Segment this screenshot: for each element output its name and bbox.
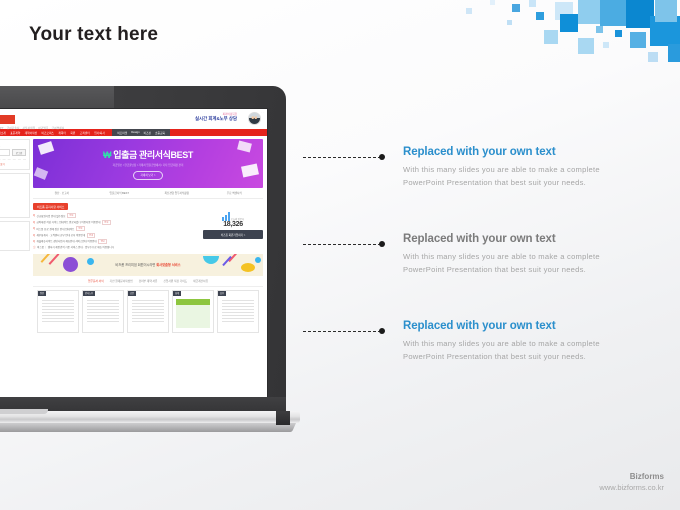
thumb-lines bbox=[222, 300, 254, 324]
mosaic-square bbox=[603, 42, 609, 48]
header-utility-links[interactable]: · · bbox=[261, 110, 264, 114]
notice-item[interactable]: Q비즈폼 유료 결제 정산 안내 업데이트안내 bbox=[33, 226, 199, 231]
q-icon: Q bbox=[33, 227, 35, 230]
thumb-caption: 회계 bbox=[173, 291, 181, 296]
mosaic-square bbox=[578, 0, 602, 24]
search-button[interactable] bbox=[0, 115, 15, 124]
thumb-caption: 일반 bbox=[38, 291, 46, 296]
nav-item[interactable]: 초중교육 bbox=[155, 131, 165, 135]
doc-tab[interactable]: 기안 결재문서작성법 bbox=[110, 279, 133, 283]
mosaic-square bbox=[544, 30, 558, 44]
nav-item[interactable]: 계약서작성 bbox=[25, 131, 37, 135]
avatar bbox=[248, 112, 261, 125]
hero-banner[interactable]: ₩ 입출금 관리서식BEST 자금일보 / 현금출납장 / 거래처 입출금명세서… bbox=[33, 139, 263, 188]
notice-tag: 안내 bbox=[67, 213, 76, 218]
login-button[interactable]: 로그인 bbox=[12, 149, 26, 156]
footer: Bizforms www.bizforms.co.kr bbox=[599, 472, 664, 492]
login-id-input[interactable] bbox=[0, 149, 10, 156]
banner-title: ₩ 입출금 관리서식BEST bbox=[103, 148, 193, 161]
banner-tabs: 결산 · 보고서 입출금서식 BEST 최신경영 업무서식활용 무료 엑셀서식 bbox=[33, 188, 263, 199]
doc-thumbnail[interactable]: 일반 bbox=[37, 290, 79, 333]
doc-tab[interactable]: 업무문서 서식 bbox=[88, 279, 104, 283]
mosaic-square bbox=[578, 38, 594, 54]
bar-chart-icon bbox=[222, 212, 230, 221]
q-icon: Q bbox=[33, 214, 35, 217]
login-links[interactable]: 회원가입 | 아이디 · 비밀번호찾기 bbox=[0, 159, 26, 166]
bullet-dot-icon bbox=[379, 154, 385, 160]
thumb-lines bbox=[132, 300, 164, 324]
doc-tab[interactable]: 세금계산서류 bbox=[193, 279, 208, 283]
doc-tab[interactable]: 경리부 계약 서류 bbox=[139, 279, 158, 283]
notice-tag: 안내 bbox=[76, 226, 85, 231]
sidebar-item[interactable]: 기업정보 bbox=[0, 201, 26, 205]
nav-item[interactable]: 캐릭터 bbox=[58, 131, 65, 135]
notice-footnote: ⓘ비즈폼 ｜ 템하기 제안견적 기준 서비스 안내 · 업무수수료 제휴 이용합… bbox=[33, 245, 199, 249]
notice-item[interactable]: Q신규회원가입 안내 필수정보안내 bbox=[33, 213, 199, 218]
dashed-line bbox=[303, 157, 381, 158]
dashed-line bbox=[303, 244, 381, 245]
thumb-caption: 공문 bbox=[128, 291, 136, 296]
bullet-dot-icon bbox=[379, 241, 385, 247]
notice-item[interactable]: Q세무회계사 · 고객센터 휴무 안내 공지 이용안내안내 bbox=[33, 233, 199, 238]
mosaic-square bbox=[560, 14, 578, 32]
doc-thumbnail[interactable]: 공문 bbox=[127, 290, 169, 333]
connector-2 bbox=[303, 240, 391, 249]
info-icon: ⓘ bbox=[33, 245, 36, 249]
site-sidebar: 마이페이지 · 로그인정보 로그인 회원가입 | 아이디 · 비밀번호찾기 급여… bbox=[0, 139, 30, 336]
dashed-line bbox=[303, 331, 381, 332]
stat-top: 오늘의 방문자 bbox=[203, 212, 263, 221]
login-title: 마이페이지 · 로그인정보 bbox=[0, 143, 26, 147]
text-block-3: Replaced with your own text With this ma… bbox=[403, 320, 638, 363]
site-body: 마이페이지 · 로그인정보 로그인 회원가입 | 아이디 · 비밀번호찾기 급여… bbox=[0, 136, 267, 336]
nav-item[interactable]: 회원 bbox=[70, 131, 75, 135]
sidebar-quick-links: 무료서식자료 비즈폼 고객센터 무료서식 출력계산기 bbox=[0, 221, 30, 251]
promo-line-2: 실시간 회계&노무 상담 bbox=[195, 116, 237, 122]
thumb-lines bbox=[42, 300, 74, 324]
thumb-caption: 인사노무 bbox=[83, 291, 95, 296]
notice-section-label: 비즈폼 공지사항 서비스 bbox=[33, 203, 68, 210]
site-nav: 홈 문서 양식 자기소개 표준계약 계약서작성 비즈오피스 캐릭터 회원 고객센… bbox=[0, 129, 267, 136]
stat-number: 18,326 bbox=[203, 221, 263, 228]
notice-item[interactable]: Q급여대장 작성 가이드 업데이트 완료되었다 이용자용 이용안내안내 bbox=[33, 220, 199, 225]
text-block-1: Replaced with your own text With this ma… bbox=[403, 146, 638, 189]
page-title: Your text here bbox=[29, 24, 158, 46]
banner-tab[interactable]: 입출금서식 BEST bbox=[91, 188, 149, 198]
mosaic-square bbox=[668, 44, 680, 62]
sidebar-cs-link[interactable]: 비즈폼 맞춤형 서비스 > bbox=[0, 208, 26, 212]
visitor-stat: 오늘의 방문자 18,326 비즈폼 회원가입하기 > bbox=[203, 212, 263, 251]
mosaic-square bbox=[466, 8, 472, 14]
block-body: With this many slides you are able to ma… bbox=[403, 164, 638, 189]
mosaic-square bbox=[630, 32, 646, 48]
nav-item[interactable]: 고객센터 bbox=[80, 131, 90, 135]
notice-tag: 안내 bbox=[98, 239, 107, 244]
mosaic-square bbox=[507, 20, 512, 25]
site-search-area: 통 PPT · 급여기술서 · 사직서템플 · 아기발문 · 급여명세서 bbox=[0, 115, 64, 130]
login-card: 마이페이지 · 로그인정보 로그인 회원가입 | 아이디 · 비밀번호찾기 bbox=[0, 139, 30, 170]
banner-sub: 자금일보 / 현금출납장 / 거래처 입출금명세서 / 기타 입금대장 관리 bbox=[113, 163, 184, 167]
block-heading: Replaced with your own text bbox=[403, 233, 638, 245]
banner-accent-icon: ₩ bbox=[103, 150, 111, 160]
nav-item[interactable]: 자기소개 bbox=[0, 131, 6, 135]
site-header: 비즈폼 통 PPT · 급여기술서 · 사직서템플 · 아기발문 · 급여명세서… bbox=[0, 109, 267, 129]
sidebar-menu: 급여관리프로그램 자금계획입력 입출금수지 재무서 기업정보 비즈폼 맞춤형 서… bbox=[0, 173, 30, 218]
text-block-2: Replaced with your own text With this ma… bbox=[403, 233, 638, 276]
signup-button[interactable]: 비즈폼 회원가입하기 > bbox=[203, 230, 263, 239]
banner-tab[interactable]: 결산 · 보고서 bbox=[33, 188, 91, 198]
thumb-lines bbox=[87, 300, 119, 324]
premium-banner-text: 비즈폼 프리미엄 회원이시라면 회사맞춤형 서비스 bbox=[115, 262, 180, 267]
notice-tag: 안내 bbox=[87, 233, 96, 238]
search-keywords: 통 PPT · 급여기술서 · 사직서템플 · 아기발문 · 급여명세서 bbox=[0, 126, 64, 130]
mosaic-square bbox=[615, 30, 622, 37]
q-icon: Q bbox=[33, 240, 35, 243]
header-promo[interactable]: 피러비링묵한 실시간 회계&노무 상담 bbox=[195, 113, 237, 122]
decorative-blue-squares bbox=[450, 0, 680, 75]
mosaic-square bbox=[490, 0, 495, 5]
thumb-header-bar bbox=[176, 299, 210, 305]
nav-item[interactable]: 표준계약 bbox=[10, 131, 20, 135]
laptop-base-notch bbox=[0, 409, 48, 414]
nav-secondary-group: 비즈마켓 Design 비즈상 초중교육 bbox=[112, 129, 170, 136]
doc-thumbnail[interactable]: 인사노무 bbox=[82, 290, 124, 333]
doc-thumbnail[interactable]: 회계 bbox=[172, 290, 214, 333]
website-mock: 비즈폼 통 PPT · 급여기술서 · 사직서템플 · 아기발문 · 급여명세서… bbox=[0, 109, 267, 397]
banner-tab[interactable]: 최신경영 업무서식활용 bbox=[148, 188, 206, 198]
slide-canvas: Your text here 비즈폼 통 PPT · 급여기술서 · 사직서템플… bbox=[0, 0, 680, 510]
banner-tab[interactable]: 무료 엑셀서식 bbox=[206, 188, 264, 198]
mosaic-square bbox=[536, 12, 544, 20]
mosaic-square bbox=[596, 26, 603, 33]
nav-item[interactable]: 입사/퇴사 bbox=[94, 131, 105, 135]
site-main: ₩ 입출금 관리서식BEST 자금일보 / 현금출납장 / 거래처 입출금명세서… bbox=[33, 139, 263, 336]
doc-thumbnail-list: 일반 인사노무 공문 bbox=[33, 287, 263, 336]
nav-item[interactable]: 비즈상 bbox=[144, 131, 151, 135]
sidebar-item[interactable]: 입출금수지 bbox=[0, 190, 26, 194]
mosaic-square bbox=[529, 0, 536, 7]
sidebar-item[interactable]: 재무서 bbox=[0, 195, 26, 199]
premium-banner[interactable]: 비즈폼 프리미엄 회원이시라면 회사맞춤형 서비스 bbox=[33, 254, 263, 276]
notice-tag: 안내 bbox=[102, 220, 111, 225]
q-icon: Q bbox=[33, 221, 35, 224]
laptop-base-shadow bbox=[0, 422, 296, 432]
block-body: With this many slides you are able to ma… bbox=[403, 338, 638, 363]
mosaic-square bbox=[600, 0, 626, 26]
block-heading: Replaced with your own text bbox=[403, 146, 638, 158]
doc-tab[interactable]: 신입사원 직장 가이드 bbox=[163, 279, 187, 283]
banner-cta[interactable]: 자세히 보기 > bbox=[133, 171, 164, 180]
thumb-caption: 총무 bbox=[218, 291, 226, 296]
mosaic-square bbox=[512, 4, 520, 12]
mosaic-square bbox=[648, 52, 658, 62]
nav-item[interactable]: 비즈오피스 bbox=[42, 131, 54, 135]
notice-list: Q신규회원가입 안내 필수정보안내 Q급여대장 작성 가이드 업데이트 완료되었… bbox=[33, 212, 199, 251]
laptop-mockup: 비즈폼 통 PPT · 급여기술서 · 사직서템플 · 아기발문 · 급여명세서… bbox=[0, 86, 294, 446]
sidebar-item[interactable]: 자금계획입력 bbox=[0, 184, 26, 188]
laptop-screen: 비즈폼 통 PPT · 급여기술서 · 사직서템플 · 아기발문 · 급여명세서… bbox=[0, 109, 267, 397]
mosaic-square bbox=[655, 0, 677, 22]
nav-item[interactable]: 비즈마켓 bbox=[117, 131, 127, 135]
login-row: 로그인 bbox=[0, 149, 26, 156]
notice-stat-row: Q신규회원가입 안내 필수정보안내 Q급여대장 작성 가이드 업데이트 완료되었… bbox=[33, 212, 263, 251]
bullet-dot-icon bbox=[379, 328, 385, 334]
connector-3 bbox=[303, 327, 391, 336]
sidebar-item[interactable]: 급여관리프로그램 bbox=[0, 179, 26, 183]
doc-tabs: 업무문서 서식 기안 결재문서작성법 경리부 계약 서류 신입사원 직장 가이드… bbox=[33, 276, 263, 287]
q-icon: Q bbox=[33, 234, 35, 237]
footer-url: www.bizforms.co.kr bbox=[599, 483, 664, 492]
block-heading: Replaced with your own text bbox=[403, 320, 638, 332]
nav-item[interactable]: Design bbox=[131, 131, 139, 134]
block-body: With this many slides you are able to ma… bbox=[403, 251, 638, 276]
doc-thumbnail[interactable]: 총무 bbox=[217, 290, 259, 333]
connector-1 bbox=[303, 153, 391, 162]
footer-brand: Bizforms bbox=[599, 472, 664, 481]
notice-item[interactable]: Q개설제휴사이트 경영사업자 제휴안내 서비스안내 이용안내안내 bbox=[33, 239, 199, 244]
laptop-hinge-cap bbox=[276, 411, 290, 425]
